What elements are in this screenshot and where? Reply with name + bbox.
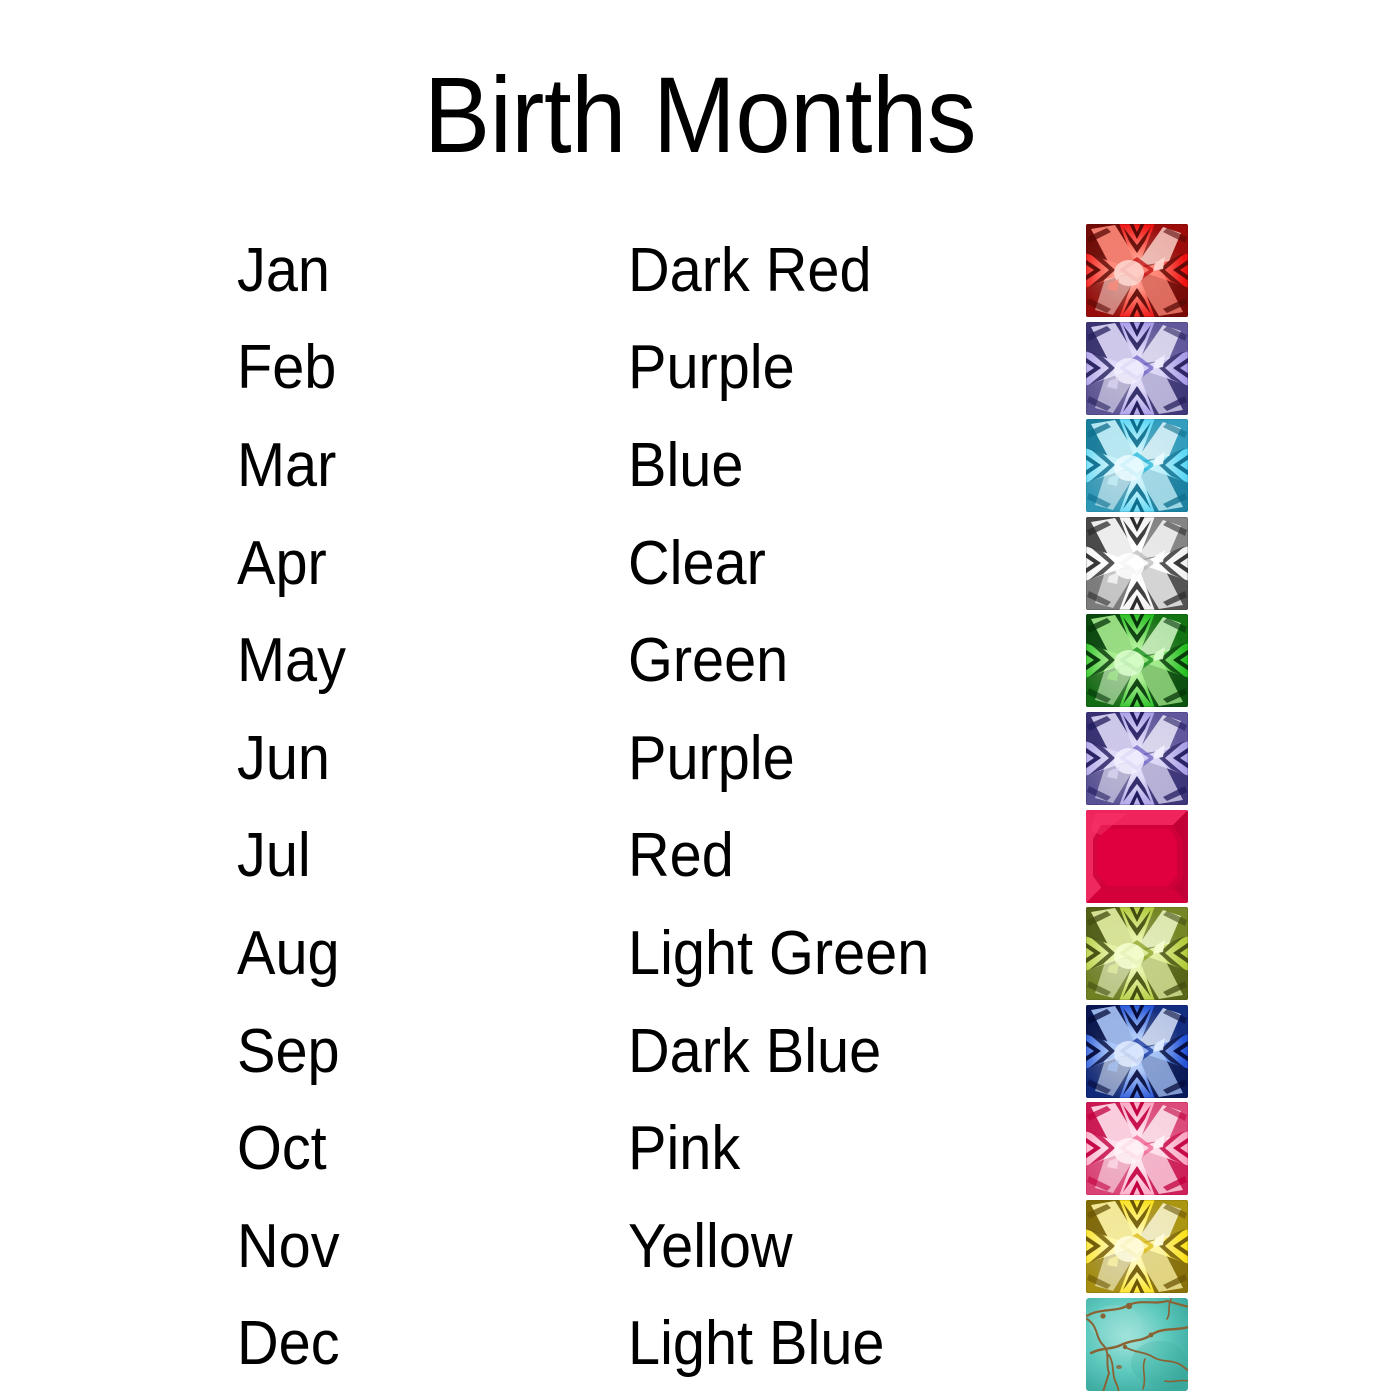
month-label: Jul [237,825,311,887]
month-label: Apr [237,533,327,595]
color-label: Purple [628,337,795,399]
birth-month-row: AugLight Green [0,905,1400,1003]
birth-months-page: Birth Months JanDark Red [0,0,1400,1400]
month-label: Oct [237,1118,327,1180]
color-label: Clear [628,533,766,595]
birth-month-row: NovYellow [0,1198,1400,1296]
citrine-gem [1085,1199,1189,1294]
color-label: Light Blue [628,1313,884,1375]
sapphire-gem [1085,1004,1189,1099]
birth-month-row: FebPurple [0,320,1400,418]
birth-month-row: MayGreen [0,612,1400,710]
month-label: Sep [237,1021,340,1083]
month-label: Dec [237,1313,340,1375]
aquamarine-gem [1085,418,1189,513]
month-label: Feb [237,337,336,399]
emerald-gem [1085,613,1189,708]
birth-month-row: AprClear [0,515,1400,613]
ruby-gem [1085,809,1189,904]
color-label: Blue [628,435,743,497]
color-label: Green [628,630,788,692]
birth-month-row: OctPink [0,1100,1400,1198]
color-label: Purple [628,728,795,790]
color-label: Light Green [628,923,929,985]
birth-month-row: DecLight Blue [0,1296,1400,1394]
month-label: May [237,630,346,692]
color-label: Red [628,825,734,887]
month-label: Aug [237,923,340,985]
month-label: Jun [237,728,330,790]
diamond-gem [1085,516,1189,611]
month-label: Jan [237,240,330,302]
page-title: Birth Months [56,58,1344,171]
color-label: Dark Blue [628,1021,881,1083]
month-label: Nov [237,1216,340,1278]
birth-month-row: JanDark Red [0,222,1400,320]
tourmaline-gem [1085,1101,1189,1196]
birth-month-row: MarBlue [0,417,1400,515]
color-label: Yellow [628,1216,793,1278]
garnet-gem [1085,223,1189,318]
birth-month-list: JanDark Red [0,222,1400,1393]
alexandrite-gem [1085,711,1189,806]
peridot-gem [1085,906,1189,1001]
birth-month-row: SepDark Blue [0,1003,1400,1101]
color-label: Dark Red [628,240,872,302]
birth-month-row: JulRed [0,808,1400,906]
color-label: Pink [628,1118,740,1180]
month-label: Mar [237,435,336,497]
birth-month-row: JunPurple [0,710,1400,808]
turquoise-gem [1085,1297,1189,1392]
amethyst-gem [1085,321,1189,416]
